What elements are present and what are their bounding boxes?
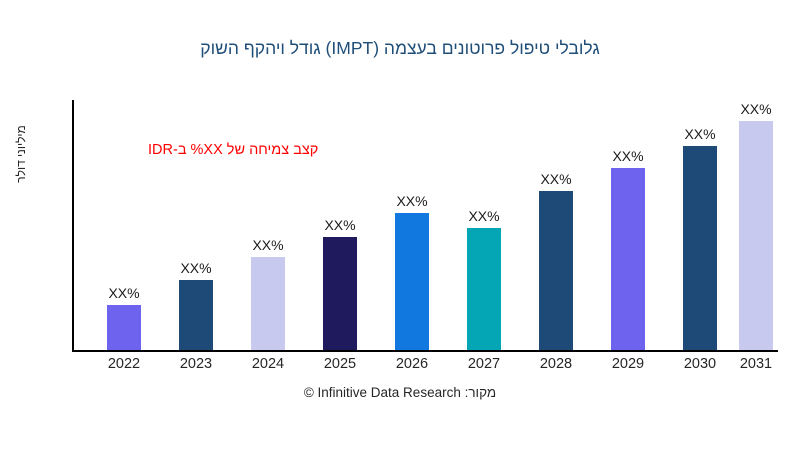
x-axis-line — [72, 350, 778, 352]
bar[interactable] — [467, 228, 501, 350]
bar[interactable] — [251, 257, 285, 350]
bar[interactable] — [107, 305, 141, 350]
bar[interactable] — [739, 121, 773, 350]
bar[interactable] — [683, 146, 717, 350]
x-tick-2029: 2029 — [598, 356, 658, 372]
bar-value-label: XX% — [726, 101, 786, 117]
x-tick-2031: 2031 — [726, 356, 786, 372]
bar[interactable] — [395, 213, 429, 350]
bar-value-label: XX% — [310, 217, 370, 233]
bar-value-label: XX% — [454, 208, 514, 224]
bar-value-label: XX% — [166, 260, 226, 276]
bar[interactable] — [539, 191, 573, 350]
x-tick-2027: 2027 — [454, 356, 514, 372]
x-tick-2023: 2023 — [166, 356, 226, 372]
bar-value-label: XX% — [382, 193, 442, 209]
bar-value-label: XX% — [598, 148, 658, 164]
x-axis-tick-labels: 2022202320242025202620272028202920302031 — [72, 356, 778, 378]
plot-area: קצב צמיחה של XX% ב-IDR XX%XX%XX%XX%XX%XX… — [72, 100, 778, 352]
chart-title: גלובלי טיפול פרוטונים בעצמה (IMPT) גודל … — [0, 38, 800, 59]
x-tick-2030: 2030 — [670, 356, 730, 372]
source-note: מקור: Infinitive Data Research © — [0, 385, 800, 400]
x-tick-2025: 2025 — [310, 356, 370, 372]
y-axis-title: מיליוני דולר — [14, 84, 32, 224]
x-tick-2026: 2026 — [382, 356, 442, 372]
x-tick-2024: 2024 — [238, 356, 298, 372]
x-tick-2028: 2028 — [526, 356, 586, 372]
bar-value-label: XX% — [238, 237, 298, 253]
bar[interactable] — [323, 237, 357, 350]
x-tick-2022: 2022 — [94, 356, 154, 372]
bar[interactable] — [611, 168, 645, 350]
bar[interactable] — [179, 280, 213, 350]
bar-value-label: XX% — [526, 171, 586, 187]
bars-layer: XX%XX%XX%XX%XX%XX%XX%XX%XX%XX% — [72, 100, 778, 350]
bar-value-label: XX% — [670, 126, 730, 142]
chart-container: גלובלי טיפול פרוטונים בעצמה (IMPT) גודל … — [0, 0, 800, 450]
bar-value-label: XX% — [94, 285, 154, 301]
